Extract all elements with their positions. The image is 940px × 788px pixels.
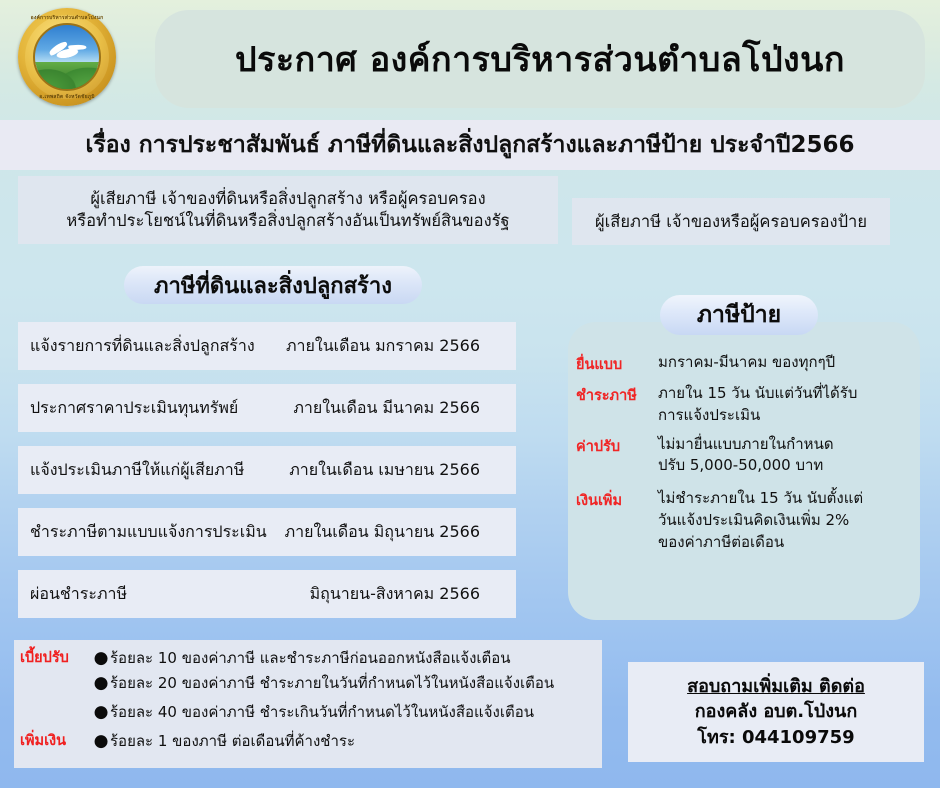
seal-inner-scene: [33, 23, 101, 91]
timeline-task: ชำระภาษีตามแบบแจ้งการประเมิน: [30, 520, 267, 545]
timeline-task: ผ่อนชำระภาษี: [30, 582, 127, 607]
bullet-icon: ●: [92, 727, 110, 756]
sign-item-value-line: ภายใน 15 วัน นับแต่วันที่ได้รับ: [658, 383, 920, 405]
section-header-sign-tax-label: ภาษีป้าย: [697, 297, 781, 333]
page-header: องค์การบริหารส่วนตำบลโป่งนก อ.เทพสถิต จั…: [0, 0, 940, 118]
sign-item-value-line: วันแจ้งประเมินคิดเงินเพิ่ม 2%: [658, 510, 920, 532]
land-tax-timeline: แจ้งรายการที่ดินและสิ่งปลูกสร้าง ภายในเด…: [18, 322, 516, 632]
sign-taxpayer-line: ผู้เสียภาษี เจ้าของหรือผู้ครอบครองป้าย: [595, 209, 867, 235]
timeline-task: แจ้งรายการที่ดินและสิ่งปลูกสร้าง: [30, 334, 255, 359]
section-header-sign-tax: ภาษีป้าย: [660, 295, 818, 335]
title-banner: ประกาศ องค์การบริหารส่วนตำบลโป่งนก: [155, 10, 925, 108]
subtitle-bar: เรื่อง การประชาสัมพันธ์ ภาษีที่ดินและสิ่…: [0, 120, 940, 170]
timeline-deadline: ภายในเดือน เมษายน 2566: [289, 458, 480, 483]
list-item: ยื่นแบบ มกราคม-มีนาคม ของทุกๆปี: [568, 352, 920, 376]
timeline-deadline: ภายในเดือน มิถุนายน 2566: [285, 520, 480, 545]
contact-phone[interactable]: โทร: 044109759: [697, 726, 854, 749]
sign-item-value-line: ของค่าภาษีต่อเดือน: [658, 532, 920, 554]
penalty-text: ร้อยละ 1 ของภาษี ต่อเดือนที่ค้างชำระ: [110, 727, 355, 756]
sign-tax-detail-list: ยื่นแบบ มกราคม-มีนาคม ของทุกๆปี ชำระภาษี…: [568, 352, 920, 560]
list-item: เบี้ยปรับ ● ร้อยละ 10 ของค่าภาษี และชำระ…: [14, 640, 602, 669]
table-row: ประกาศราคาประเมินทุนทรัพย์ ภายในเดือน มี…: [18, 384, 516, 432]
list-item: เพิ่มเงิน ● ร้อยละ 1 ของภาษี ต่อเดือนที่…: [14, 727, 602, 756]
bullet-icon: ●: [92, 669, 110, 698]
page-title: ประกาศ องค์การบริหารส่วนตำบลโป่งนก: [235, 32, 845, 86]
land-taxpayer-definition-box: ผู้เสียภาษี เจ้าของที่ดินหรือสิ่งปลูกสร้…: [18, 176, 558, 244]
contact-heading: สอบถามเพิ่มเติม ติดต่อ: [687, 675, 865, 698]
sign-item-value-line: มกราคม-มีนาคม ของทุกๆปี: [658, 352, 920, 374]
land-taxpayer-line-2: หรือทำประโยชน์ในที่ดินหรือสิ่งปลูกสร้างอ…: [66, 210, 509, 232]
sign-item-label: ชำระภาษี: [576, 383, 658, 427]
list-item: ● ร้อยละ 20 ของค่าภาษี ชำระภายในวันที่กำ…: [14, 669, 602, 698]
penalty-label: เพิ่มเงิน: [14, 727, 92, 756]
section-header-land-tax: ภาษีที่ดินและสิ่งปลูกสร้าง: [124, 266, 422, 304]
bullet-icon: ●: [92, 698, 110, 727]
sign-item-value-line: ปรับ 5,000-50,000 บาท: [658, 455, 920, 477]
section-header-land-tax-label: ภาษีที่ดินและสิ่งปลูกสร้าง: [154, 268, 392, 303]
sign-item-label: ค่าปรับ: [576, 434, 658, 478]
sign-item-label: ยื่นแบบ: [576, 352, 658, 376]
contact-box: สอบถามเพิ่มเติม ติดต่อ กองคลัง อบต.โป่งน…: [628, 662, 924, 762]
sign-taxpayer-definition-box: ผู้เสียภาษี เจ้าของหรือผู้ครอบครองป้าย: [572, 198, 890, 245]
table-row: แจ้งรายการที่ดินและสิ่งปลูกสร้าง ภายในเด…: [18, 322, 516, 370]
contact-office: กองคลัง อบต.โป่งนก: [695, 700, 857, 723]
seal-hills: [33, 62, 101, 89]
list-item: ค่าปรับ ไม่มายื่นแบบภายในกำหนด ปรับ 5,00…: [568, 434, 920, 478]
list-item: เงินเพิ่ม ไม่ชำระภายใน 15 วัน นับตั้งแต่…: [568, 488, 920, 553]
timeline-deadline: ภายในเดือน มีนาคม 2566: [293, 396, 480, 421]
pong-nok-subdistrict-seal-icon: องค์การบริหารส่วนตำบลโป่งนก อ.เทพสถิต จั…: [18, 8, 116, 106]
sign-item-value: ไม่ชำระภายใน 15 วัน นับตั้งแต่ วันแจ้งปร…: [658, 488, 920, 553]
timeline-deadline: มิถุนายน-สิงหาคม 2566: [310, 582, 480, 607]
sign-item-value-line: การแจ้งประเมิน: [658, 405, 920, 427]
penalty-text: ร้อยละ 20 ของค่าภาษี ชำระภายในวันที่กำหน…: [110, 669, 554, 698]
list-item: ชำระภาษี ภายใน 15 วัน นับแต่วันที่ได้รับ…: [568, 383, 920, 427]
penalty-text: ร้อยละ 40 ของค่าภาษี ชำระเกินวันที่กำหนด…: [110, 698, 534, 727]
seal-bird-icon: [46, 38, 88, 65]
list-item: ● ร้อยละ 40 ของค่าภาษี ชำระเกินวันที่กำห…: [14, 698, 602, 727]
penalty-label: เบี้ยปรับ: [14, 644, 92, 673]
sign-item-value: ไม่มายื่นแบบภายในกำหนด ปรับ 5,000-50,000…: [658, 434, 920, 478]
table-row: แจ้งประเมินภาษีให้แก่ผู้เสียภาษี ภายในเด…: [18, 446, 516, 494]
sign-item-value: มกราคม-มีนาคม ของทุกๆปี: [658, 352, 920, 376]
timeline-task: แจ้งประเมินภาษีให้แก่ผู้เสียภาษี: [30, 458, 244, 483]
seal-text-bottom: อ.เทพสถิต จังหวัดชัยภูมิ: [18, 93, 116, 101]
page-subtitle: เรื่อง การประชาสัมพันธ์ ภาษีที่ดินและสิ่…: [86, 127, 855, 163]
timeline-deadline: ภายในเดือน มกราคม 2566: [286, 334, 480, 359]
land-taxpayer-line-1: ผู้เสียภาษี เจ้าของที่ดินหรือสิ่งปลูกสร้…: [90, 188, 485, 210]
timeline-task: ประกาศราคาประเมินทุนทรัพย์: [30, 396, 238, 421]
table-row: ผ่อนชำระภาษี มิถุนายน-สิงหาคม 2566: [18, 570, 516, 618]
seal-text-top: องค์การบริหารส่วนตำบลโป่งนก: [18, 14, 116, 22]
penalty-box: เบี้ยปรับ ● ร้อยละ 10 ของค่าภาษี และชำระ…: [14, 640, 602, 768]
sign-item-label: เงินเพิ่ม: [576, 488, 658, 553]
sign-item-value-line: ไม่มายื่นแบบภายในกำหนด: [658, 434, 920, 456]
table-row: ชำระภาษีตามแบบแจ้งการประเมิน ภายในเดือน …: [18, 508, 516, 556]
sign-item-value-line: ไม่ชำระภายใน 15 วัน นับตั้งแต่: [658, 488, 920, 510]
sign-item-value: ภายใน 15 วัน นับแต่วันที่ได้รับ การแจ้งป…: [658, 383, 920, 427]
